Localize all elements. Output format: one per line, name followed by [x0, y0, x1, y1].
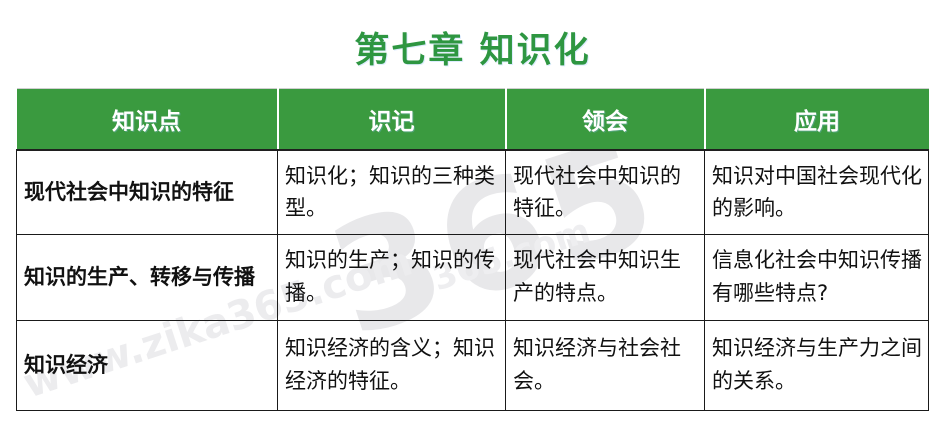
column-header-row: 知识点 识记 领会 应用 — [17, 89, 929, 151]
cell-comprehend: 知识经济与社会社会。 — [506, 320, 705, 410]
table-head: 第七章 知识化 知识点 识记 领会 应用 — [17, 14, 929, 150]
column-header-memorize: 识记 — [278, 89, 506, 151]
cell-apply: 知识对中国社会现代化的影响。 — [705, 150, 929, 234]
column-header-comprehend: 领会 — [506, 89, 705, 151]
page-title: 第七章 知识化 — [354, 31, 590, 71]
table-row: 知识的生产、转移与传播 知识的生产；知识的传播。 现代社会中知识生产的特点。 信… — [17, 234, 929, 320]
table-body: 现代社会中知识的特征 知识化；知识的三种类型。 现代社会中知识的特征。 知识对中… — [17, 150, 929, 410]
cell-comprehend: 现代社会中知识的特征。 — [506, 150, 705, 234]
cell-apply: 信息化社会中知识传播有哪些特点? — [705, 234, 929, 320]
knowledge-table: 第七章 知识化 知识点 识记 领会 应用 现代社会中知识的特征 知识化；知识的三… — [16, 14, 929, 411]
cell-knowledge-point: 知识的生产、转移与传播 — [17, 234, 278, 320]
cell-comprehend: 现代社会中知识生产的特点。 — [506, 234, 705, 320]
knowledge-table-container: 第七章 知识化 知识点 识记 领会 应用 现代社会中知识的特征 知识化；知识的三… — [16, 14, 928, 414]
cell-memorize: 知识的生产；知识的传播。 — [278, 234, 506, 320]
chapter-title-row: 第七章 知识化 — [17, 14, 929, 89]
cell-apply: 知识经济与生产力之间的关系。 — [705, 320, 929, 410]
cell-memorize: 知识经济的含义；知识经济的特征。 — [278, 320, 506, 410]
chapter-title-cell: 第七章 知识化 — [17, 14, 929, 89]
table-row: 现代社会中知识的特征 知识化；知识的三种类型。 现代社会中知识的特征。 知识对中… — [17, 150, 929, 234]
column-header-apply: 应用 — [705, 89, 929, 151]
document-page: 365 www.zika365.com 365.com 第七章 知识化 知识点 — [0, 0, 942, 432]
cell-memorize: 知识化；知识的三种类型。 — [278, 150, 506, 234]
table-row: 知识经济 知识经济的含义；知识经济的特征。 知识经济与社会社会。 知识经济与生产… — [17, 320, 929, 410]
cell-knowledge-point: 知识经济 — [17, 320, 278, 410]
column-header-knowledge-point: 知识点 — [17, 89, 278, 151]
cell-knowledge-point: 现代社会中知识的特征 — [17, 150, 278, 234]
